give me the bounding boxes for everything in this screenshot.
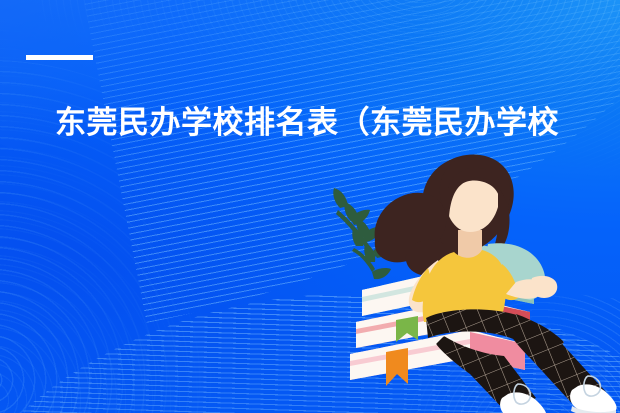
illustration-girl-on-books: [320, 148, 620, 413]
bookmark-orange: [386, 348, 408, 386]
neck: [458, 230, 482, 258]
banner-image: 东莞民办学校排名表（东莞民办学校: [0, 0, 620, 413]
page-title: 东莞民办学校排名表（东莞民办学校: [55, 104, 620, 143]
accent-rule: [26, 55, 93, 60]
